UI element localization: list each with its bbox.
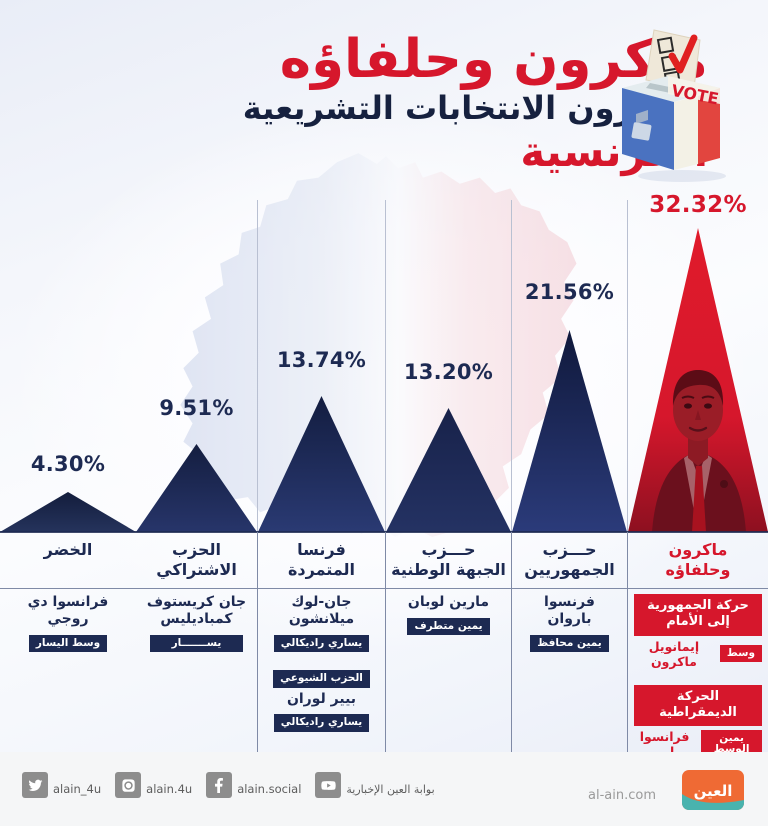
social-links: alain_4u alain.4u alain.social بوابة الع… bbox=[22, 772, 435, 798]
ideology-tag: وسط bbox=[720, 645, 762, 663]
footer: alain_4u alain.4u alain.social بوابة الع… bbox=[0, 752, 768, 826]
candidate-list-socialist: جان كريستوف كمباديليس يســـــــار bbox=[136, 594, 257, 664]
triangle-greens bbox=[0, 492, 136, 532]
sub-party-tag: الحزب الشيوعي bbox=[273, 670, 370, 688]
chart-column-greens: 4.30% bbox=[0, 200, 136, 532]
triangle-france-insoumise bbox=[258, 396, 385, 532]
candidate-list-macron-allies: حركة الجمهورية إلى الأمام إيمانويل ماكرو… bbox=[628, 594, 768, 771]
chart: 4.30% 9.51% bbox=[0, 200, 768, 532]
candidate-name: مارين لوبان bbox=[394, 594, 503, 611]
candidate-name: بيير لوران bbox=[266, 691, 377, 708]
candidate-item: جان كريستوف كمباديليس يســـــــار bbox=[144, 594, 249, 652]
chart-column-republicans: 21.56% bbox=[512, 200, 628, 532]
chart-column-france-insoumise: 13.74% bbox=[258, 200, 386, 532]
triangle-republicans bbox=[512, 330, 627, 532]
party-name-greens: الخضر bbox=[0, 540, 136, 560]
alliance-title: الحركة الديمقراطية bbox=[634, 685, 762, 727]
party-line-2: الجمهوريين bbox=[524, 560, 615, 579]
party-line-1: ماكرون bbox=[669, 540, 728, 559]
social-link-facebook[interactable]: alain.social bbox=[206, 772, 301, 798]
party-line-2: المتمردة bbox=[288, 560, 355, 579]
candidate-name: فرنسوا باروان bbox=[520, 594, 619, 628]
table-column-socialist: الحزب الاشتراكي جان كريستوف كمباديليس يس… bbox=[136, 532, 258, 752]
party-line-1: الخضر bbox=[44, 540, 93, 559]
candidate-item: مارين لوبان يمين متطرف bbox=[394, 594, 503, 635]
value-label-republicans: 21.56% bbox=[512, 280, 627, 304]
party-line-2: الجبهة الوطنية bbox=[391, 560, 506, 579]
logo-text: العين bbox=[694, 782, 733, 800]
value-label-france-insoumise: 13.74% bbox=[258, 348, 385, 372]
twitter-icon bbox=[22, 772, 48, 798]
party-name-macron-allies: ماكرون وحلفاؤه bbox=[628, 540, 768, 579]
value-label-macron-allies: 32.32% bbox=[628, 192, 768, 218]
candidate-list-france-insoumise: جان-لوك ميلانشون يساري راديكالي الحزب ال… bbox=[258, 594, 385, 744]
alliance-title-line-1: حركة الجمهورية bbox=[647, 598, 749, 613]
social-link-instagram[interactable]: alain.4u bbox=[115, 772, 192, 798]
alliance-leader-row: إيمانويل ماكرون وسط bbox=[634, 639, 762, 669]
social-handle: alain_4u bbox=[53, 784, 101, 799]
ideology-tag: يمين محافظ bbox=[530, 635, 609, 653]
triangle-socialist bbox=[136, 444, 257, 532]
social-handle: alain.social bbox=[237, 784, 301, 799]
facebook-icon bbox=[206, 772, 232, 798]
party-line-2: الاشتراكي bbox=[156, 560, 237, 579]
candidate-item: فرانسوا دي روجي وسط اليسار bbox=[8, 594, 128, 652]
chart-column-socialist: 9.51% bbox=[136, 200, 258, 532]
chart-column-national-front: 13.20% bbox=[386, 200, 512, 532]
table-column-greens: الخضر فرانسوا دي روجي وسط اليسار bbox=[0, 532, 136, 752]
alliance-block: حركة الجمهورية إلى الأمام إيمانويل ماكرو… bbox=[634, 594, 762, 669]
party-name-socialist: الحزب الاشتراكي bbox=[136, 540, 257, 579]
value-label-socialist: 9.51% bbox=[136, 396, 257, 420]
party-line-1: حـــزب bbox=[543, 540, 597, 559]
parties-table: الخضر فرانسوا دي روجي وسط اليسار الحزب ا… bbox=[0, 532, 768, 752]
party-line-1: حـــزب bbox=[422, 540, 476, 559]
alliance-title: حركة الجمهورية إلى الأمام bbox=[634, 594, 762, 636]
candidate-list-republicans: فرنسوا باروان يمين محافظ bbox=[512, 594, 627, 664]
table-column-national-front: حـــزب الجبهة الوطنية مارين لوبان يمين م… bbox=[386, 532, 512, 752]
party-name-republicans: حـــزب الجمهوريين bbox=[512, 540, 627, 579]
candidate-name: إيمانويل ماكرون bbox=[634, 639, 714, 669]
alliance-title-line-2: إلى الأمام bbox=[666, 614, 730, 629]
candidate-item: جان-لوك ميلانشون يساري راديكالي bbox=[266, 594, 377, 652]
social-handle: alain.4u bbox=[146, 784, 192, 799]
candidate-item: فرنسوا باروان يمين محافظ bbox=[520, 594, 619, 652]
ideology-tag: يمين متطرف bbox=[407, 618, 489, 636]
header: ماكرون وحلفاؤه يتصدرون الانتخابات التشري… bbox=[0, 0, 768, 215]
chart-column-macron-allies: 32.32% bbox=[628, 200, 768, 532]
social-handle: بوابة العين الإخبارية bbox=[346, 784, 434, 798]
party-name-national-front: حـــزب الجبهة الوطنية bbox=[386, 540, 511, 579]
ideology-tag: يساري راديكالي bbox=[274, 635, 369, 653]
party-name-france-insoumise: فرنسا المتمردة bbox=[258, 540, 385, 579]
triangle-national-front bbox=[386, 408, 511, 532]
instagram-icon bbox=[115, 772, 141, 798]
youtube-icon bbox=[315, 772, 341, 798]
value-label-national-front: 13.20% bbox=[386, 360, 511, 384]
table-column-france-insoumise: فرنسا المتمردة جان-لوك ميلانشون يساري را… bbox=[258, 532, 386, 752]
triangle-macron-allies bbox=[628, 228, 768, 532]
ballot-box-icon: VOTE bbox=[594, 18, 742, 186]
value-label-greens: 4.30% bbox=[0, 452, 136, 476]
candidate-name: فرانسوا دي روجي bbox=[8, 594, 128, 628]
social-link-twitter[interactable]: alain_4u bbox=[22, 772, 101, 798]
candidate-name: جان-لوك ميلانشون bbox=[266, 594, 377, 628]
alliance-block: الحركة الديمقراطية فرانسوا بايرو يمين ال… bbox=[634, 685, 762, 760]
candidate-item: الحزب الشيوعي بيير لوران يساري راديكالي bbox=[266, 666, 377, 732]
party-line-1: الحزب bbox=[172, 540, 221, 559]
social-link-youtube[interactable]: بوابة العين الإخبارية bbox=[315, 772, 434, 798]
candidate-list-greens: فرانسوا دي روجي وسط اليسار bbox=[0, 594, 136, 664]
ideology-tag: يساري راديكالي bbox=[274, 714, 369, 732]
candidate-list-national-front: مارين لوبان يمين متطرف bbox=[386, 594, 511, 647]
table-column-republicans: حـــزب الجمهوريين فرنسوا باروان يمين محا… bbox=[512, 532, 628, 752]
table-column-macron-allies: ماكرون وحلفاؤه حركة الجمهورية إلى الأمام… bbox=[628, 532, 768, 752]
al-ain-logo[interactable]: العين bbox=[666, 768, 752, 812]
party-line-1: فرنسا bbox=[297, 540, 346, 559]
party-line-2: وحلفاؤه bbox=[666, 560, 731, 579]
website-url: al-ain.com bbox=[588, 788, 656, 803]
ideology-tag: وسط اليسار bbox=[29, 635, 107, 653]
alliance-title-line-1: الحركة الديمقراطية bbox=[659, 689, 737, 720]
ideology-tag: يســـــــار bbox=[150, 635, 244, 653]
candidate-name: جان كريستوف كمباديليس bbox=[144, 594, 249, 628]
